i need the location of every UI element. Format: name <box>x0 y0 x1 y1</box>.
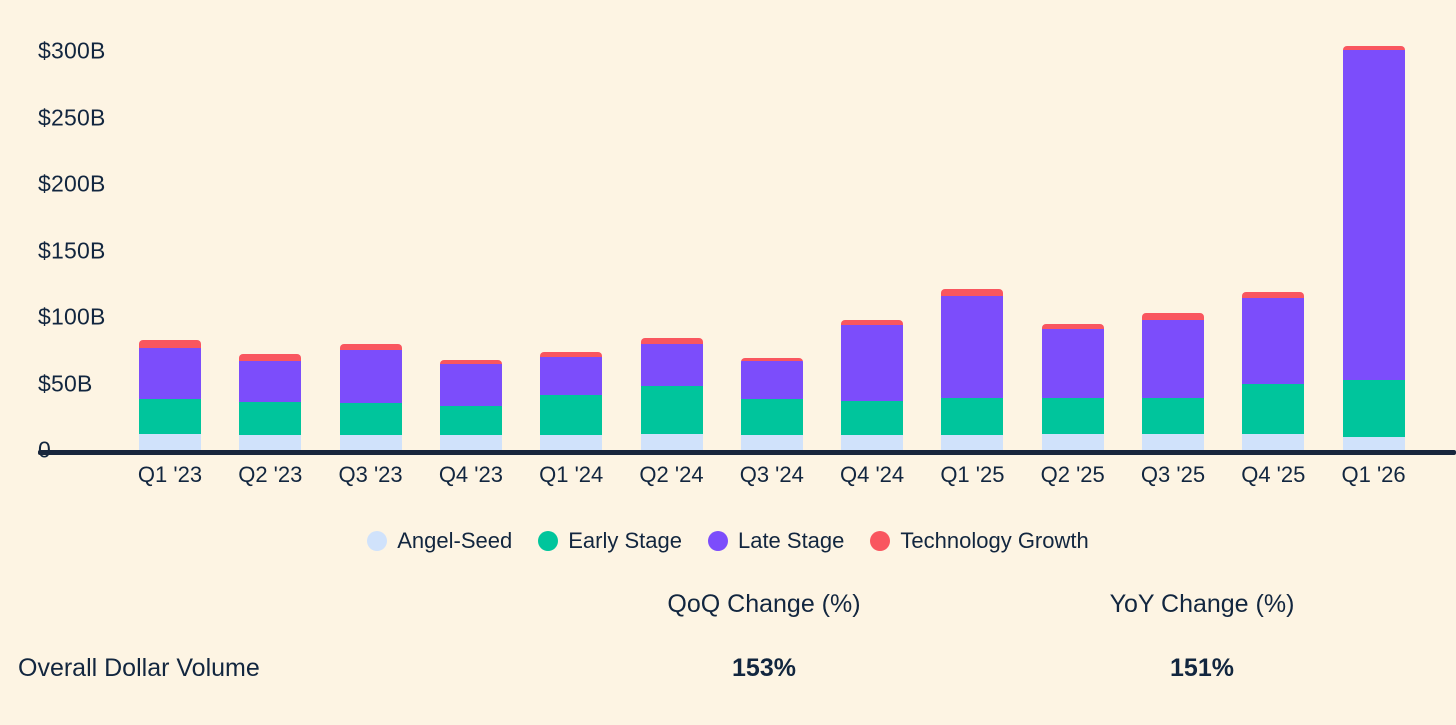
bar-segment-technology-growth[interactable] <box>1142 313 1204 320</box>
legend-label: Angel-Seed <box>397 528 512 554</box>
bar-segment-angel-seed[interactable] <box>941 435 1003 450</box>
chart-legend: Angel-SeedEarly StageLate StageTechnolog… <box>0 528 1456 554</box>
bar-stack[interactable] <box>1343 46 1405 450</box>
bar-segment-early-stage[interactable] <box>941 398 1003 435</box>
bar-stack[interactable] <box>841 320 903 450</box>
bar-segment-late-stage[interactable] <box>239 361 301 402</box>
bar-stack[interactable] <box>139 340 201 450</box>
bar-segment-early-stage[interactable] <box>239 402 301 435</box>
bar-group[interactable] <box>1042 0 1104 450</box>
bar-segment-late-stage[interactable] <box>139 348 201 400</box>
bar-segment-early-stage[interactable] <box>841 401 903 436</box>
summary-column-header-qoq: QoQ Change (%) <box>604 590 924 619</box>
bar-segment-angel-seed[interactable] <box>540 435 602 450</box>
bar-segment-technology-growth[interactable] <box>1242 292 1304 299</box>
bar-segment-angel-seed[interactable] <box>139 434 201 450</box>
legend-label: Early Stage <box>568 528 682 554</box>
bar-segment-early-stage[interactable] <box>340 403 402 435</box>
bar-segment-early-stage[interactable] <box>440 406 502 435</box>
bars-layer <box>0 0 1456 450</box>
bar-segment-angel-seed[interactable] <box>841 435 903 450</box>
legend-swatch-icon <box>538 531 558 551</box>
bar-segment-early-stage[interactable] <box>1343 380 1405 437</box>
plot-area: $300B$250B$200B$150B$100B$50B0 Q1 '23Q2 … <box>0 0 1456 455</box>
bar-group[interactable] <box>1142 0 1204 450</box>
summary-value-yoy: 151% <box>1042 654 1362 683</box>
bar-segment-angel-seed[interactable] <box>440 435 502 450</box>
bar-segment-late-stage[interactable] <box>641 344 703 387</box>
bar-segment-late-stage[interactable] <box>741 361 803 400</box>
bar-segment-angel-seed[interactable] <box>641 434 703 450</box>
x-axis-baseline <box>38 450 1456 455</box>
bar-segment-technology-growth[interactable] <box>340 344 402 351</box>
bar-segment-angel-seed[interactable] <box>239 435 301 450</box>
bar-group[interactable] <box>741 0 803 450</box>
legend-item[interactable]: Angel-Seed <box>367 528 512 554</box>
x-axis-tick-label: Q1 '26 <box>1304 462 1444 488</box>
bar-stack[interactable] <box>741 358 803 450</box>
bar-stack[interactable] <box>440 360 502 450</box>
bar-stack[interactable] <box>340 344 402 450</box>
bar-segment-late-stage[interactable] <box>1242 298 1304 383</box>
bar-stack[interactable] <box>239 354 301 450</box>
bar-group[interactable] <box>941 0 1003 450</box>
bar-segment-angel-seed[interactable] <box>1042 434 1104 450</box>
legend-swatch-icon <box>708 531 728 551</box>
bar-group[interactable] <box>440 0 502 450</box>
bar-group[interactable] <box>641 0 703 450</box>
bar-segment-technology-growth[interactable] <box>139 340 201 348</box>
bar-segment-late-stage[interactable] <box>1142 320 1204 398</box>
bar-group[interactable] <box>1343 0 1405 450</box>
legend-label: Technology Growth <box>900 528 1088 554</box>
bar-group[interactable] <box>841 0 903 450</box>
bar-stack[interactable] <box>1242 292 1304 450</box>
summary-row-label: Overall Dollar Volume <box>18 654 260 683</box>
bar-segment-early-stage[interactable] <box>741 399 803 435</box>
bar-segment-angel-seed[interactable] <box>340 435 402 450</box>
summary-column-header-yoy: YoY Change (%) <box>1042 590 1362 619</box>
bar-segment-late-stage[interactable] <box>440 364 502 407</box>
bar-segment-late-stage[interactable] <box>1042 329 1104 398</box>
bar-group[interactable] <box>540 0 602 450</box>
bar-segment-early-stage[interactable] <box>540 395 602 435</box>
venture-funding-stacked-bar-chart: $300B$250B$200B$150B$100B$50B0 Q1 '23Q2 … <box>0 0 1456 725</box>
bar-group[interactable] <box>340 0 402 450</box>
bar-group[interactable] <box>1242 0 1304 450</box>
bar-segment-angel-seed[interactable] <box>1343 437 1405 450</box>
bar-segment-late-stage[interactable] <box>941 296 1003 398</box>
bar-segment-early-stage[interactable] <box>139 399 201 434</box>
bar-segment-early-stage[interactable] <box>1242 384 1304 435</box>
bar-stack[interactable] <box>1142 313 1204 450</box>
legend-item[interactable]: Late Stage <box>708 528 844 554</box>
bar-group[interactable] <box>139 0 201 450</box>
legend-label: Late Stage <box>738 528 844 554</box>
legend-swatch-icon <box>870 531 890 551</box>
bar-segment-early-stage[interactable] <box>641 386 703 434</box>
bar-stack[interactable] <box>641 338 703 450</box>
bar-segment-technology-growth[interactable] <box>941 289 1003 296</box>
bar-segment-angel-seed[interactable] <box>1142 434 1204 450</box>
bar-segment-technology-growth[interactable] <box>239 354 301 361</box>
bar-stack[interactable] <box>540 352 602 450</box>
bar-segment-angel-seed[interactable] <box>741 435 803 450</box>
bar-segment-late-stage[interactable] <box>1343 50 1405 380</box>
bar-segment-early-stage[interactable] <box>1042 398 1104 434</box>
summary-table: QoQ Change (%)YoY Change (%)Overall Doll… <box>0 590 1456 725</box>
bar-segment-late-stage[interactable] <box>340 350 402 403</box>
bar-segment-early-stage[interactable] <box>1142 398 1204 434</box>
legend-swatch-icon <box>367 531 387 551</box>
legend-item[interactable]: Early Stage <box>538 528 682 554</box>
bar-segment-angel-seed[interactable] <box>1242 434 1304 450</box>
bar-stack[interactable] <box>941 289 1003 450</box>
summary-value-qoq: 153% <box>604 654 924 683</box>
legend-item[interactable]: Technology Growth <box>870 528 1088 554</box>
bar-stack[interactable] <box>1042 324 1104 450</box>
bar-segment-late-stage[interactable] <box>540 357 602 396</box>
bar-group[interactable] <box>239 0 301 450</box>
bar-segment-late-stage[interactable] <box>841 325 903 401</box>
